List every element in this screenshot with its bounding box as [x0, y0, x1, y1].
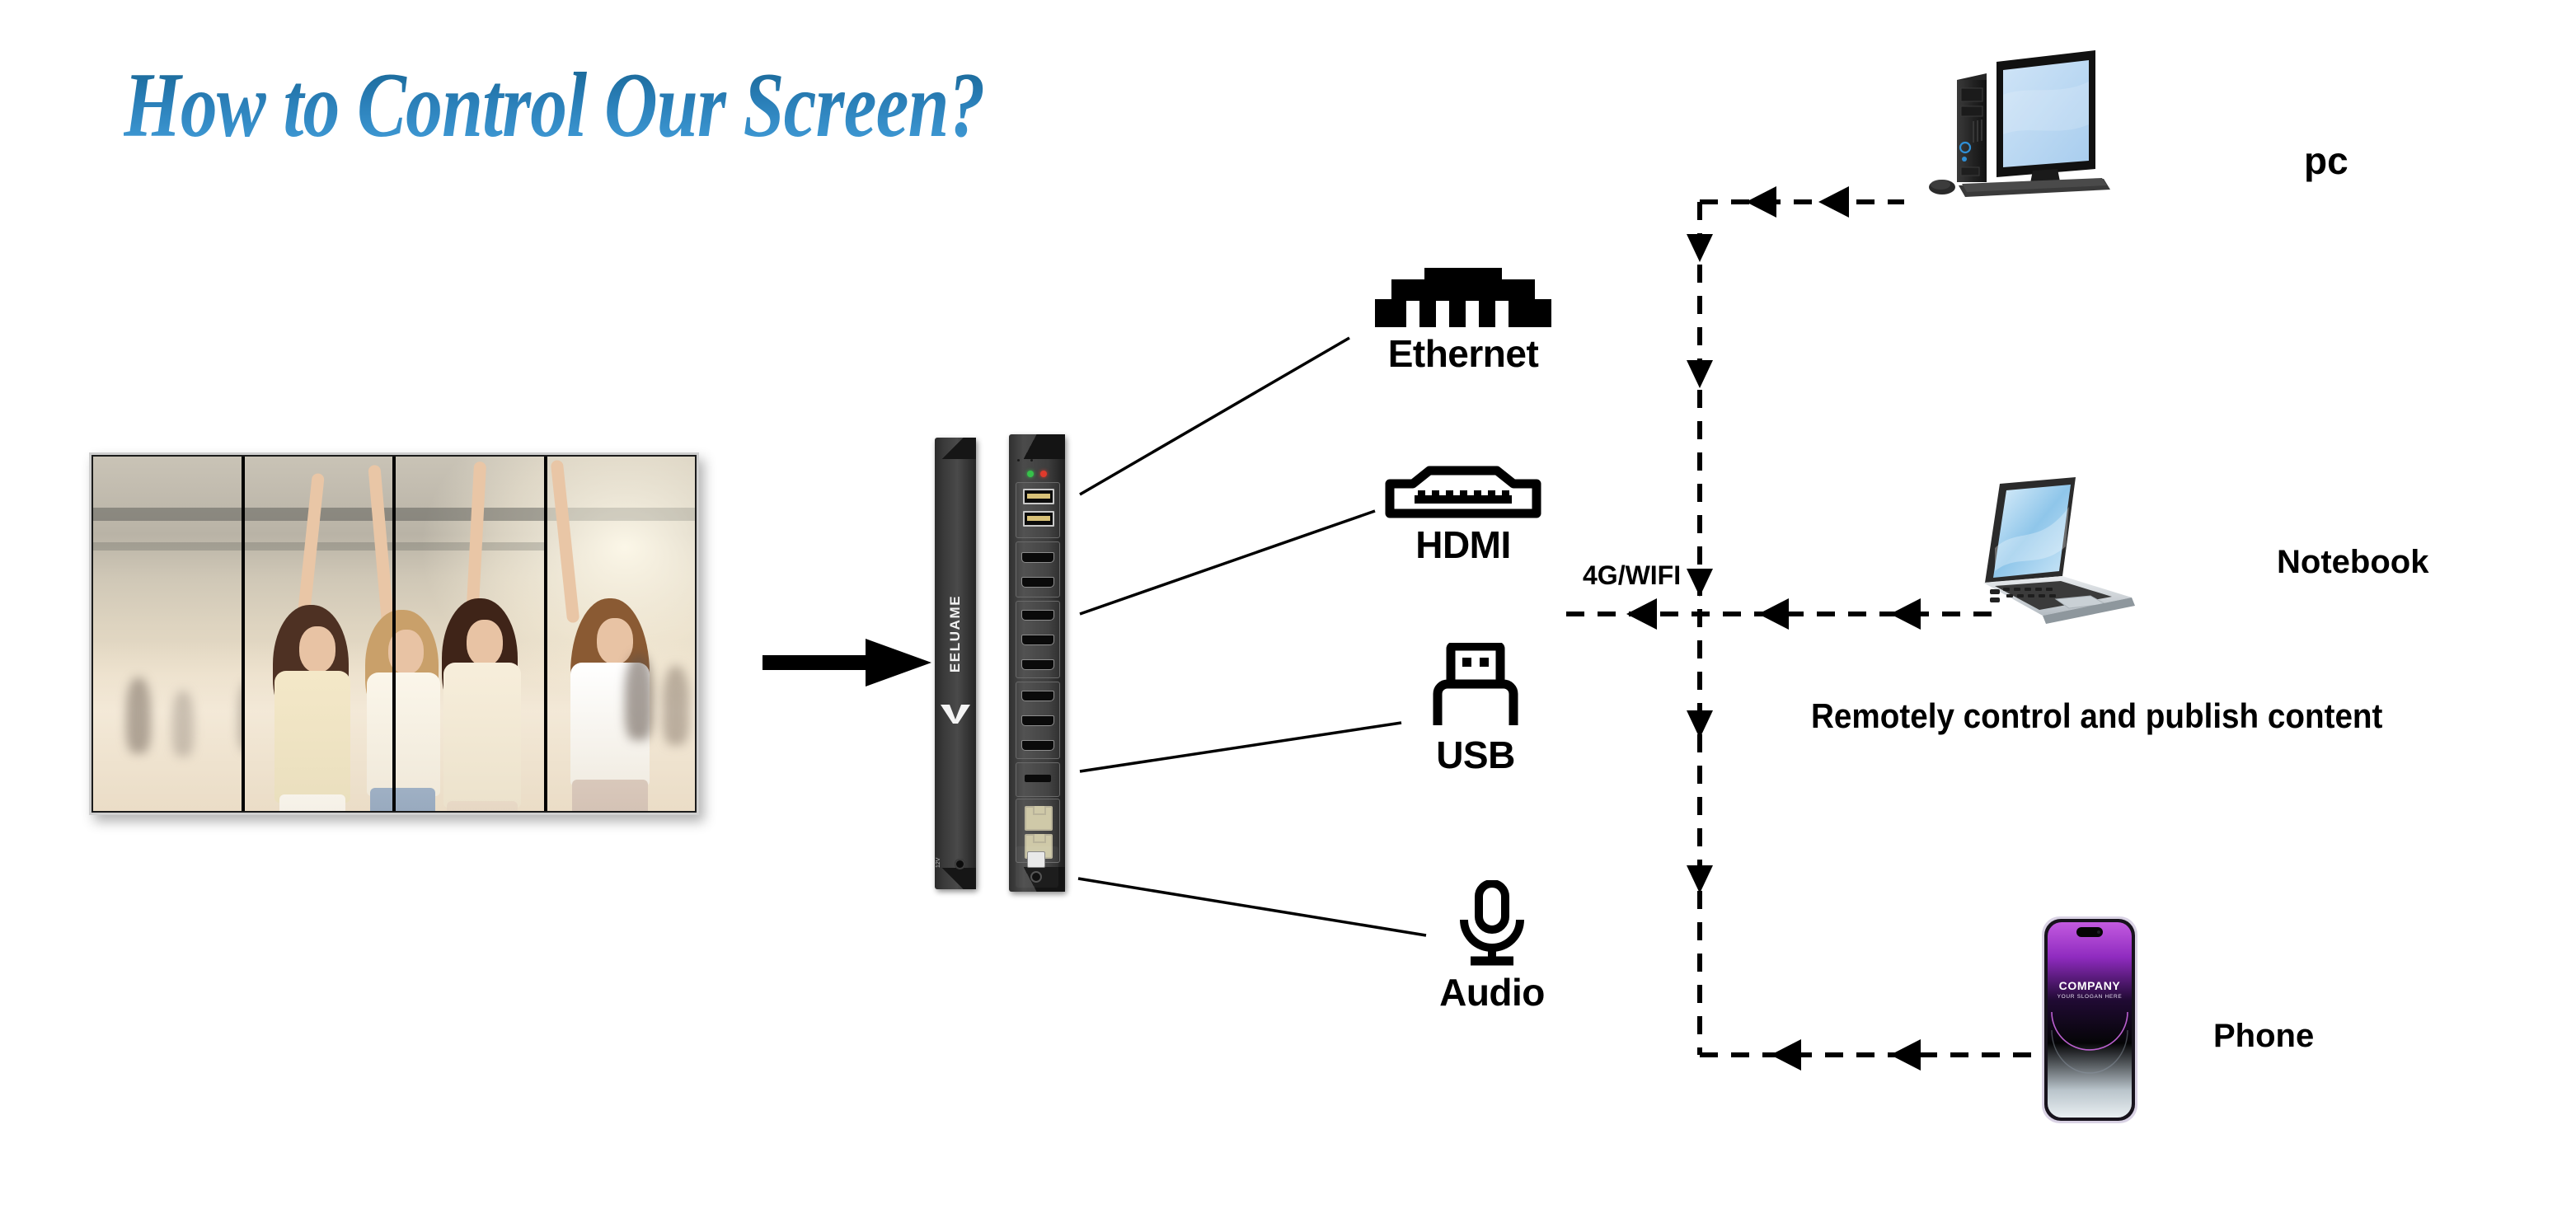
wire-to-ethernet	[1080, 338, 1349, 494]
remote-control-caption: Remotely control and publish content	[1811, 696, 2382, 736]
wire-to-usb	[1080, 723, 1401, 771]
video-wall-panel	[396, 457, 547, 811]
port-usb: USB	[1401, 643, 1550, 774]
phone-slogan-text: YOUR SLOGAN HERE	[2040, 994, 2139, 1000]
expansion-slot-group	[1016, 762, 1060, 797]
media-player-device: EELUAME 12V	[930, 434, 1078, 892]
port-label-hdmi: HDMI	[1360, 526, 1566, 564]
ethernet-port-icon	[1368, 268, 1558, 327]
hdmi-in-port-group	[1016, 541, 1060, 597]
backbone-arrow-5	[1687, 865, 1713, 893]
device-brand-label: EELUAME	[947, 585, 964, 682]
dc-power-jack	[955, 859, 965, 869]
video-wall-panels	[93, 457, 695, 811]
notebook-link-arrow-2	[1758, 598, 1789, 630]
video-wall-panel	[93, 457, 245, 811]
brand-logo-icon	[938, 700, 973, 724]
microphone-icon	[1449, 880, 1535, 966]
notebook-link-arrow-3	[1890, 598, 1921, 630]
port-hdmi: HDMI	[1360, 466, 1566, 564]
port-ethernet: Ethernet	[1352, 268, 1574, 373]
hdmi-port-icon	[1385, 466, 1541, 518]
device-power-label: 12V	[936, 858, 941, 868]
backbone-arrow-1	[1687, 234, 1713, 262]
video-wall	[89, 452, 699, 815]
wire-to-hdmi	[1080, 511, 1375, 614]
desktop-pc-illustration	[1927, 45, 2249, 198]
hdmi-out-port-group-2	[1016, 682, 1060, 759]
flow-arrow-icon	[762, 639, 931, 687]
port-audio: Audio	[1418, 880, 1566, 1011]
status-led-green	[1027, 471, 1034, 477]
device-front-panel: EELUAME 12V	[935, 438, 976, 889]
wire-to-audio	[1078, 879, 1426, 935]
port-label-ethernet: Ethernet	[1352, 335, 1574, 373]
hdmi-out-port-group-1	[1016, 601, 1060, 678]
pc-link-arrow-1	[1746, 186, 1776, 218]
notebook-illustration	[1970, 474, 2242, 647]
port-label-audio: Audio	[1418, 973, 1566, 1011]
usb-port-group	[1016, 482, 1060, 538]
network-link-label: 4G/WIFI	[1583, 560, 1681, 591]
phone-company-text: COMPANY	[2040, 979, 2139, 992]
video-wall-panel	[245, 457, 396, 811]
backbone-arrow-2	[1687, 360, 1713, 388]
backbone-arrow-3	[1687, 569, 1713, 597]
device-label-phone: Phone	[2213, 1018, 2314, 1055]
phone-link-arrow-2	[1890, 1039, 1921, 1071]
phone-illustration: COMPANY YOUR SLOGAN HERE	[2040, 915, 2139, 1125]
page-title: How to Control Our Screen?	[124, 58, 985, 155]
device-label-pc: pc	[2304, 138, 2348, 183]
status-led-red	[1040, 471, 1047, 477]
device-rear-panel	[1009, 434, 1065, 892]
pc-link-arrow-2	[1818, 186, 1849, 218]
port-label-usb: USB	[1401, 736, 1550, 774]
device-label-notebook: Notebook	[2277, 544, 2428, 581]
usb-port-icon	[1429, 643, 1522, 729]
audio-optical-port-group	[1016, 846, 1058, 888]
video-wall-panel	[547, 457, 696, 811]
backbone-arrow-4	[1687, 710, 1713, 738]
notebook-link-arrow-1	[1626, 598, 1657, 630]
phone-link-arrow-1	[1771, 1039, 1801, 1071]
